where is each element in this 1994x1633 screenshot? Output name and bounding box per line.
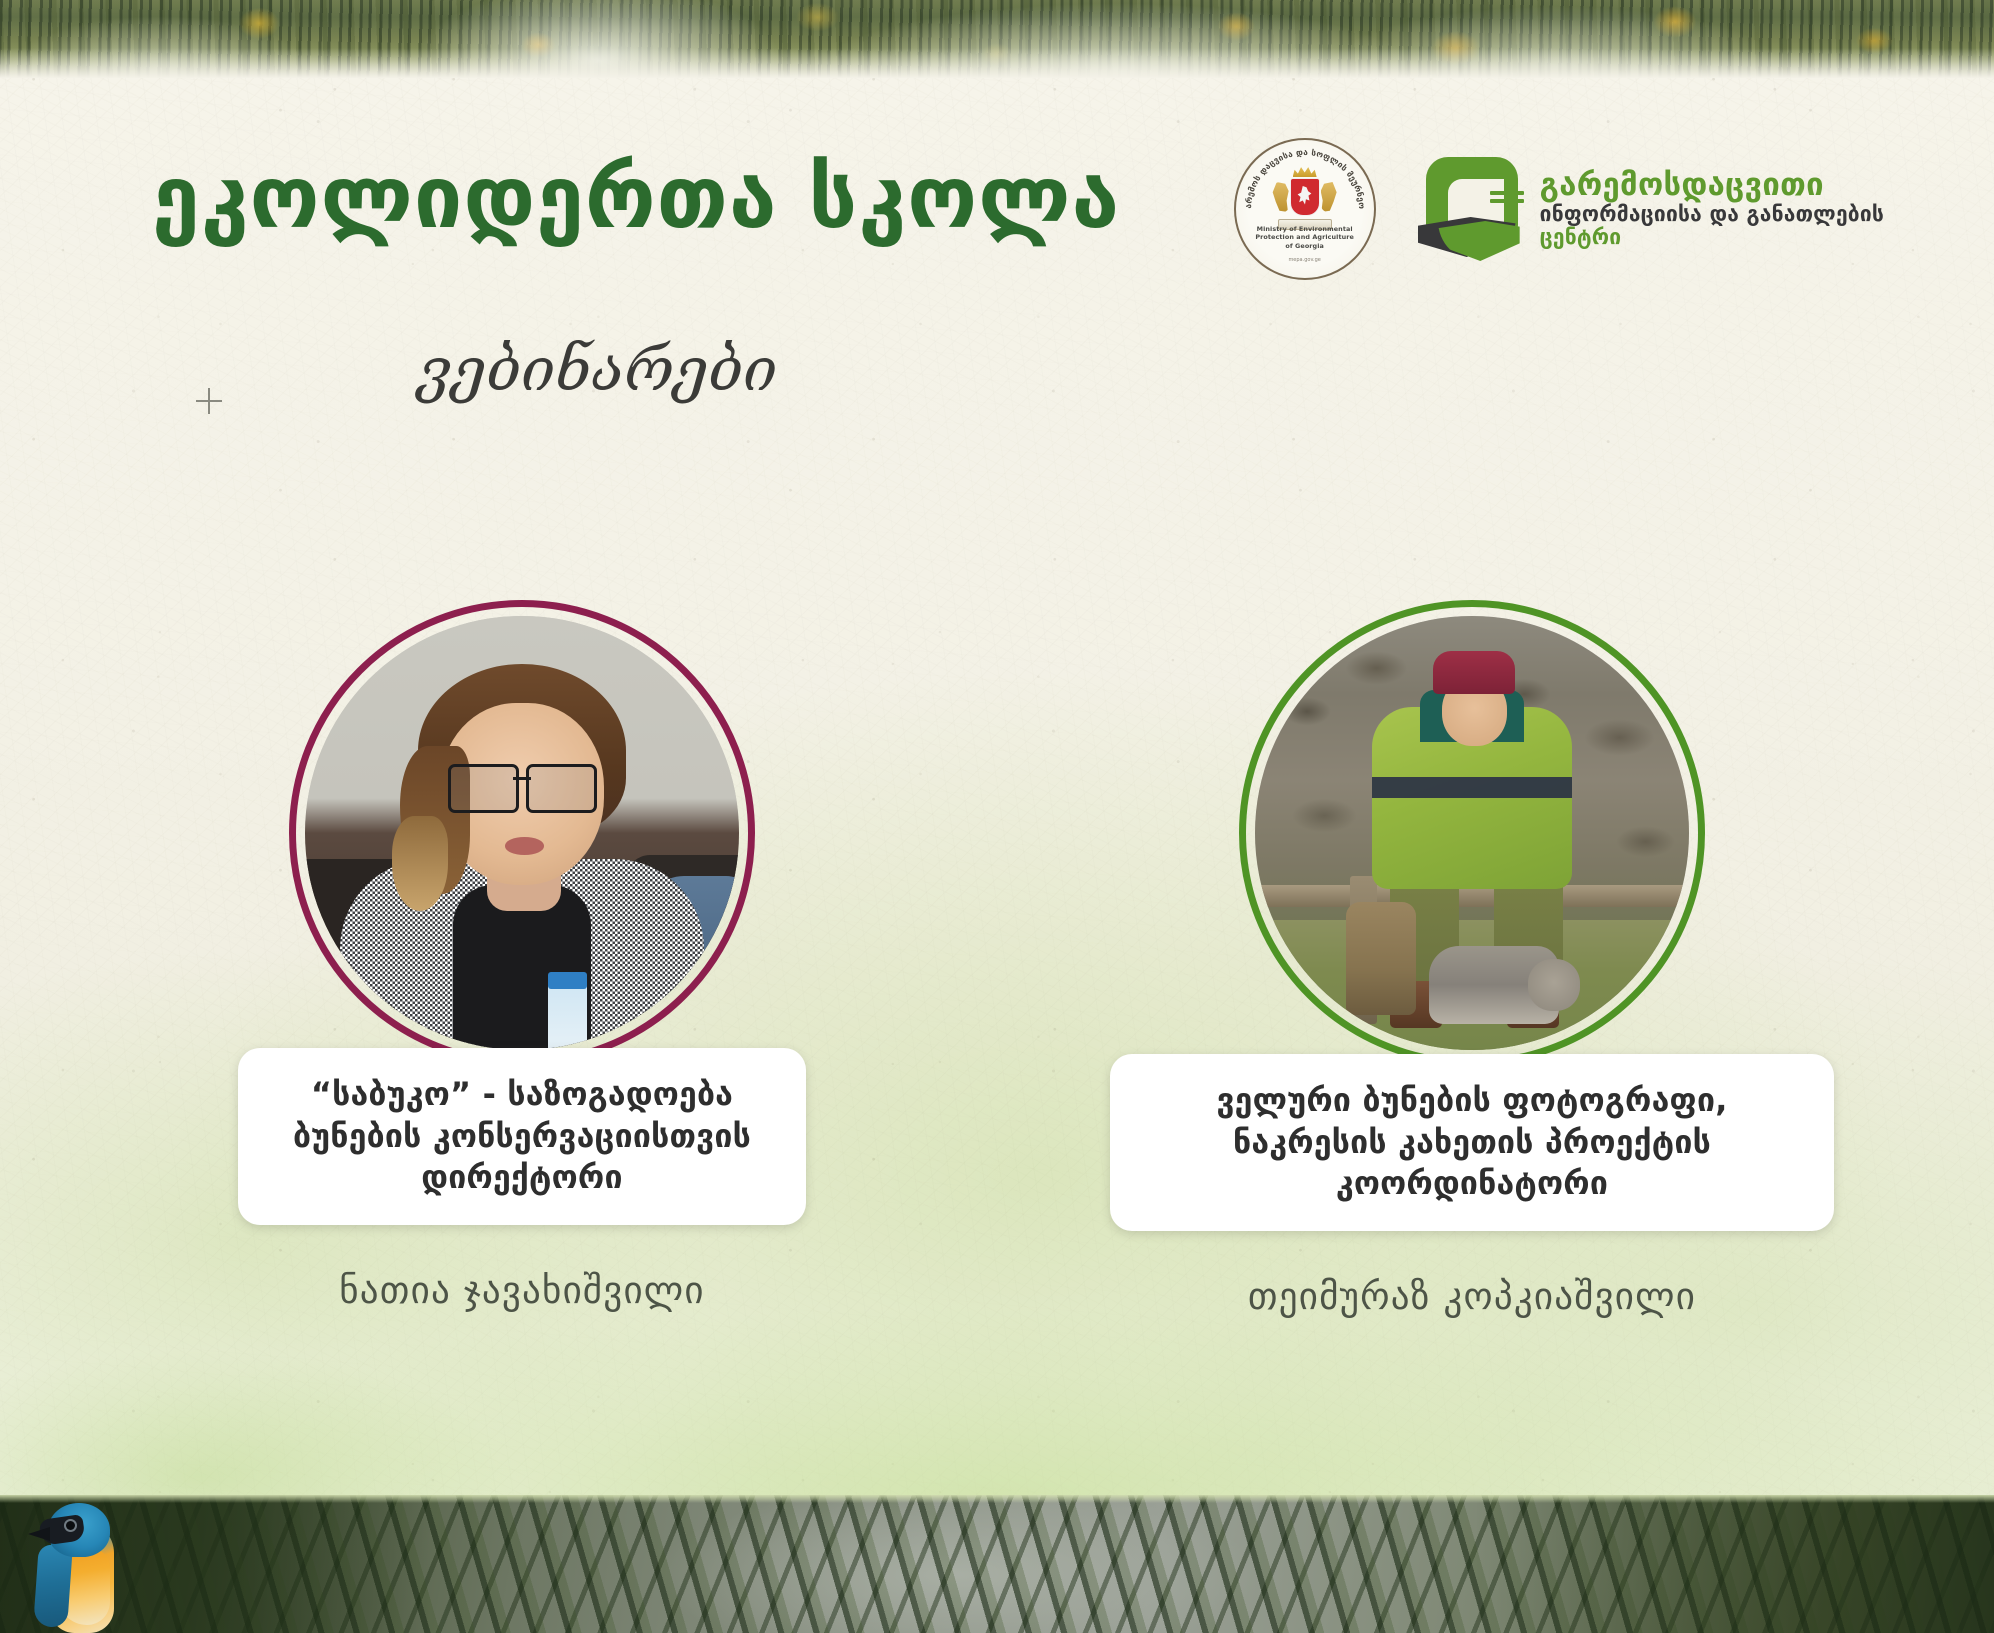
page-title: ეკოლიდერთა სკოლა: [152, 155, 1120, 241]
speaker-role-caption: ველური ბუნების ფოტოგრაფი, ნაკრესის კახეთ…: [1110, 1054, 1834, 1231]
bottom-banner-top-edge: [0, 1495, 1994, 1503]
speaker-name: ნათია ჯავახიშვილი: [339, 1269, 705, 1312]
seal-caption-line-2: Protection and Agriculture: [1234, 233, 1376, 241]
logo-group: საქართველოს გარემოს დაცვისა და სოფლის მე…: [1234, 138, 1884, 280]
speaker-card-2: ველური ბუნების ფოტოგრაფი, ნაკრესის კახეთ…: [1162, 600, 1782, 1318]
eiec-line-2: ინფორმაციისა და განათლების: [1540, 203, 1884, 227]
eiec-line-1: გარემოსდაცვითი: [1540, 168, 1884, 203]
avatar-ring-green: [1239, 600, 1705, 1066]
eiec-line-3: ცენტრი: [1540, 226, 1884, 250]
seal-caption-line-1: Ministry of Environmental: [1234, 225, 1376, 233]
seal-caption-line-3: of Georgia: [1234, 242, 1376, 250]
speaker-card-1: “საბუკო” - საზოგადოება ბუნების კონსერვაც…: [212, 600, 832, 1318]
lion-left-icon: [1272, 182, 1289, 212]
avatar: [289, 600, 755, 1066]
logo-book-green-page: [1438, 221, 1520, 261]
avatar-ring-burgundy: [289, 600, 755, 1066]
bird-beak: [28, 1527, 50, 1541]
lion-right-icon: [1321, 182, 1338, 212]
eiec-logo: გარემოსდაცვითი ინფორმაციისა და განათლები…: [1418, 157, 1884, 261]
shield-icon: [1290, 178, 1320, 216]
speaker-role-caption: “საბუკო” - საზოგადოება ბუნების კონსერვაც…: [238, 1048, 806, 1225]
bird-eye: [66, 1521, 75, 1530]
logo-bars-icon: [1490, 191, 1524, 207]
speaker-list: “საბუკო” - საზოგადოება ბუნების კონსერვაც…: [0, 600, 1994, 1318]
bottom-banner-right-shadow: [1474, 1495, 1994, 1633]
speaker-name: თეიმურაზ კოპკიაშვილი: [1248, 1275, 1696, 1318]
avatar: [1239, 600, 1705, 1066]
georgia-coat-of-arms-icon: [1272, 174, 1338, 226]
ministry-seal-logo: საქართველოს გარემოს დაცვისა და სოფლის მე…: [1234, 138, 1376, 280]
seal-url: mepa.gov.ge: [1234, 257, 1376, 263]
slide-root: ეკოლიდერთა სკოლა ვებინარები საქართველოს …: [0, 0, 1994, 1633]
eiec-logo-text: გარემოსდაცვითი ინფორმაციისა და განათლები…: [1540, 168, 1884, 250]
bird-icon: [24, 1501, 154, 1633]
bird-wing: [33, 1544, 73, 1628]
open-book-logo-icon: [1418, 157, 1526, 261]
top-banner-forest-image: [0, 0, 1994, 78]
saint-george-rider-icon: [1297, 186, 1313, 208]
seal-caption: Ministry of Environmental Protection and…: [1234, 225, 1376, 250]
page-subtitle: ვებინარები: [418, 340, 777, 400]
bottom-banner-bird-image: [0, 1495, 1994, 1633]
top-banner-fade: [0, 48, 1994, 78]
